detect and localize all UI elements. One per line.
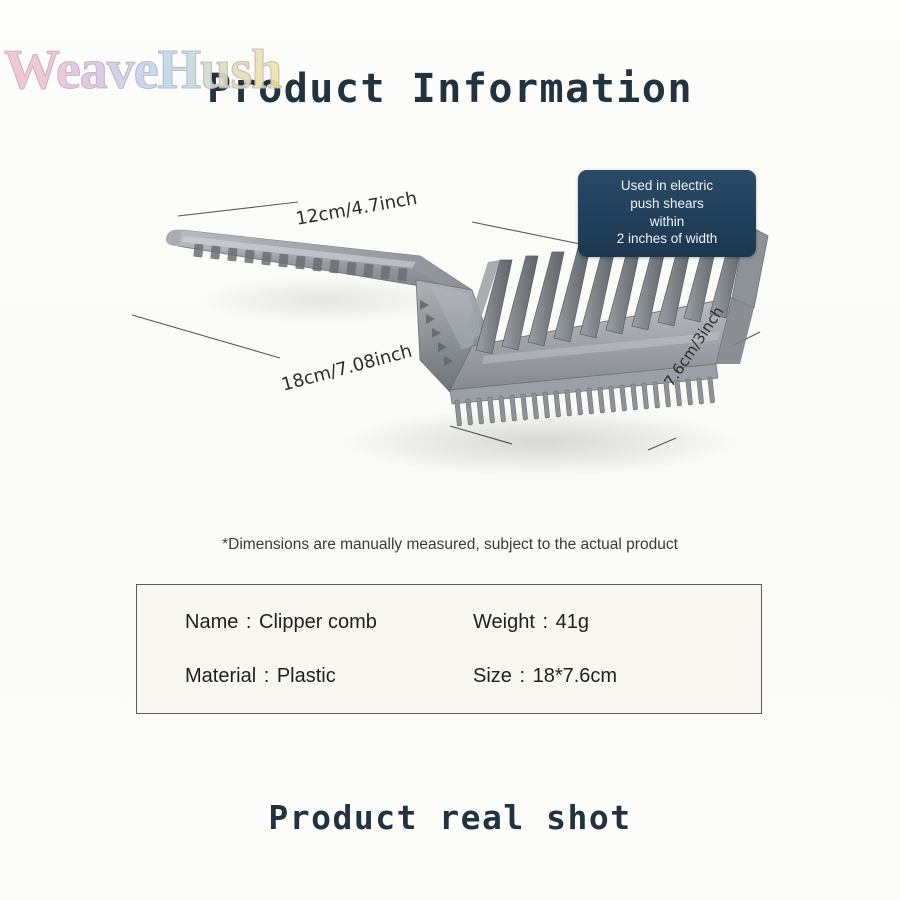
usage-callout: Used in electric push shears within 2 in… bbox=[578, 170, 756, 257]
callout-line-2: push shears bbox=[584, 195, 750, 213]
spec-value-name: Clipper comb bbox=[259, 611, 377, 633]
callout-line-3: within bbox=[584, 213, 750, 231]
spec-label-name: Name bbox=[185, 611, 238, 633]
spec-row-name: Name : Clipper comb bbox=[185, 611, 473, 634]
spec-value-size: 18*7.6cm bbox=[533, 665, 618, 687]
measurement-disclaimer: *Dimensions are manually measured, subje… bbox=[0, 536, 900, 554]
spec-value-material: Plastic bbox=[277, 665, 336, 687]
specification-table: Name : Clipper comb Weight : 41g Materia… bbox=[136, 584, 762, 714]
product-information-page: WeaveHush Product Information Used in el… bbox=[0, 0, 900, 900]
spec-row-size: Size : 18*7.6cm bbox=[473, 665, 761, 688]
footer-title: Product real shot bbox=[0, 798, 900, 837]
spec-row-material: Material : Plastic bbox=[185, 665, 473, 688]
page-title: Product Information bbox=[0, 66, 900, 112]
spec-row-weight: Weight : 41g bbox=[473, 611, 761, 634]
spec-separator: : bbox=[244, 611, 254, 633]
callout-line-4: 2 inches of width bbox=[584, 230, 750, 248]
spec-separator: : bbox=[540, 611, 550, 633]
spec-separator: : bbox=[517, 665, 527, 687]
spec-label-size: Size bbox=[473, 665, 512, 687]
spec-value-weight: 41g bbox=[556, 611, 589, 633]
spec-separator: : bbox=[262, 665, 272, 687]
spec-label-weight: Weight bbox=[473, 611, 535, 633]
callout-line-1: Used in electric bbox=[584, 177, 750, 195]
spec-label-material: Material bbox=[185, 665, 256, 687]
